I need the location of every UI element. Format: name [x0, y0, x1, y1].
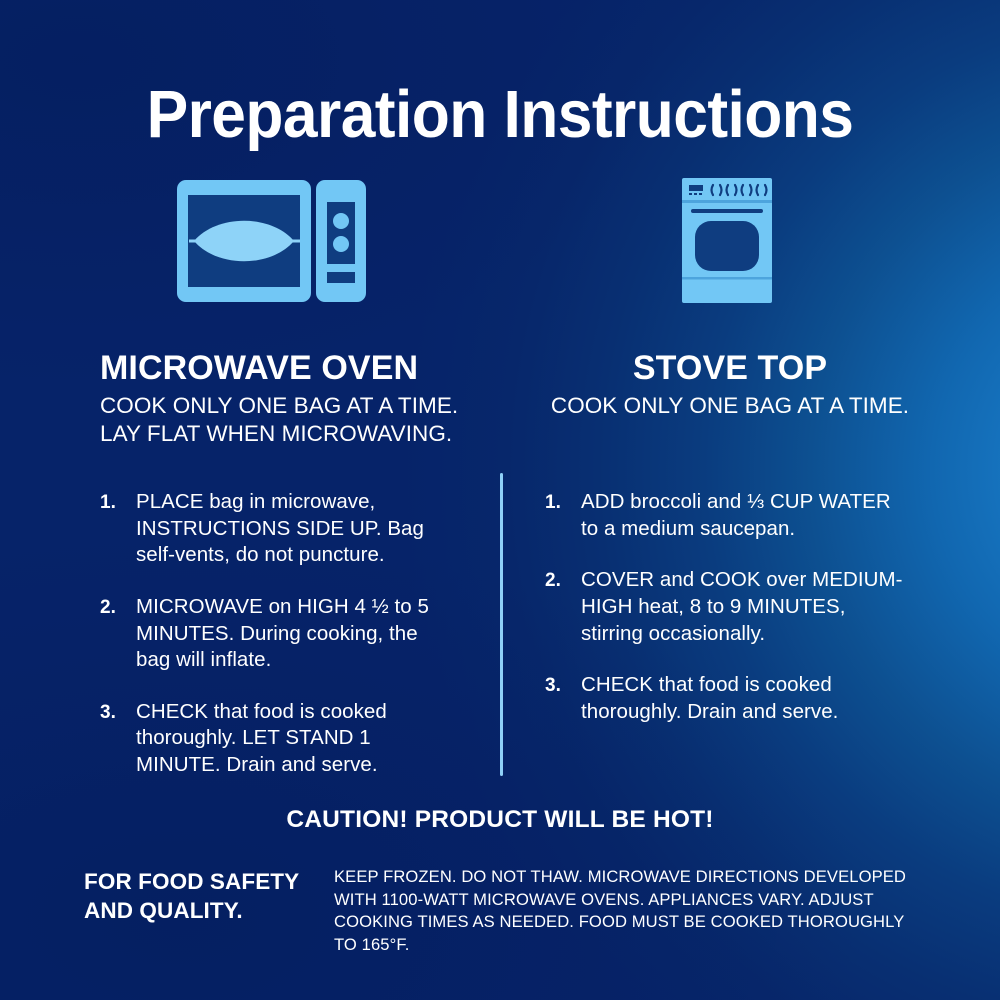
list-item: 1. ADD broccoli and ⅓ CUP WATER to a med…	[545, 489, 905, 542]
microwave-subtitle-line-2: LAY FLAT WHEN MICROWAVING.	[100, 420, 458, 448]
column-divider	[500, 473, 503, 776]
microwave-subtitle-line-1: COOK ONLY ONE BAG AT A TIME.	[100, 392, 458, 420]
step-number: 3.	[100, 699, 136, 779]
step-text: CHECK that food is cooked thoroughly. Dr…	[581, 672, 905, 725]
list-item: 1. PLACE bag in microwave, INSTRUCTIONS …	[100, 489, 450, 569]
disclaimer-text: KEEP FROZEN. DO NOT THAW. MICROWAVE DIRE…	[334, 866, 919, 957]
page-title: Preparation Instructions	[35, 76, 965, 153]
list-item: 2. COVER and COOK over MEDIUM-HIGH heat,…	[545, 567, 905, 647]
step-text: PLACE bag in microwave, INSTRUCTIONS SID…	[136, 489, 450, 569]
microwave-steps-list: 1. PLACE bag in microwave, INSTRUCTIONS …	[100, 489, 450, 804]
stovetop-heading: STOVE TOP	[500, 349, 960, 387]
microwave-heading: MICROWAVE OVEN	[100, 349, 458, 387]
food-safety-heading: FOR FOOD SAFETY AND QUALITY.	[84, 868, 334, 926]
food-safety-heading-line-2: AND QUALITY.	[84, 897, 334, 926]
stove-top-icon	[682, 178, 772, 303]
microwave-oven-icon	[177, 180, 366, 302]
column-heading-microwave: MICROWAVE OVEN COOK ONLY ONE BAG AT A TI…	[100, 349, 458, 448]
step-text: ADD broccoli and ⅓ CUP WATER to a medium…	[581, 489, 905, 542]
stovetop-steps-list: 1. ADD broccoli and ⅓ CUP WATER to a med…	[545, 489, 905, 750]
step-number: 2.	[100, 594, 136, 674]
step-number: 1.	[545, 489, 581, 542]
caution-notice: CAUTION! PRODUCT WILL BE HOT!	[0, 806, 1000, 834]
step-number: 3.	[545, 672, 581, 725]
food-safety-heading-line-1: FOR FOOD SAFETY	[84, 868, 334, 897]
stovetop-subtitle: COOK ONLY ONE BAG AT A TIME.	[500, 392, 960, 420]
stovetop-subtitle-line-1: COOK ONLY ONE BAG AT A TIME.	[500, 392, 960, 420]
list-item: 3. CHECK that food is cooked thoroughly.…	[545, 672, 905, 725]
step-text: COVER and COOK over MEDIUM-HIGH heat, 8 …	[581, 567, 905, 647]
step-text: CHECK that food is cooked thoroughly. LE…	[136, 699, 450, 779]
list-item: 2. MICROWAVE on HIGH 4 ½ to 5 MINUTES. D…	[100, 594, 450, 674]
step-number: 2.	[545, 567, 581, 647]
column-heading-stovetop: STOVE TOP COOK ONLY ONE BAG AT A TIME.	[500, 349, 960, 420]
list-item: 3. CHECK that food is cooked thoroughly.…	[100, 699, 450, 779]
step-text: MICROWAVE on HIGH 4 ½ to 5 MINUTES. Duri…	[136, 594, 450, 674]
preparation-instructions-panel: Preparation Instructions	[0, 0, 1000, 1000]
step-number: 1.	[100, 489, 136, 569]
microwave-subtitle: COOK ONLY ONE BAG AT A TIME. LAY FLAT WH…	[100, 392, 458, 448]
